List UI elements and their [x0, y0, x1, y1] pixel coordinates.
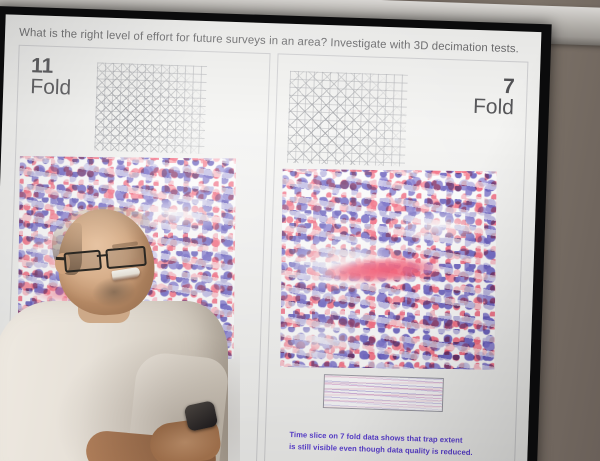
glasses-temple-arm	[56, 257, 66, 260]
panel-7-fold: 7 Fold	[263, 53, 528, 461]
fold-word-right: Fold	[473, 96, 515, 118]
geometry-hatch-left	[94, 62, 207, 154]
fold-word-left: Fold	[30, 76, 72, 98]
photo-scene: What is the right level of effort for fu…	[0, 0, 600, 461]
glasses-right-lens	[105, 246, 147, 269]
acquisition-geometry-diagram-left	[94, 62, 207, 154]
fold-number-right: 7	[473, 75, 515, 97]
acquisition-geometry-diagram-right	[286, 71, 407, 167]
panel-caption-right: Time slice on 7 fold data shows that tra…	[289, 429, 473, 459]
seismic-section-inset-right	[322, 374, 443, 412]
glasses-left-lens	[63, 250, 102, 273]
fold-number-left: 11	[31, 55, 73, 77]
time-slice-map-right	[280, 169, 496, 370]
fold-label-left: 11 Fold	[30, 55, 72, 98]
geometry-hatch-right	[286, 71, 407, 167]
section-wash-right	[323, 375, 442, 411]
presenter	[0, 205, 260, 461]
fold-label-right: 7 Fold	[473, 75, 515, 118]
